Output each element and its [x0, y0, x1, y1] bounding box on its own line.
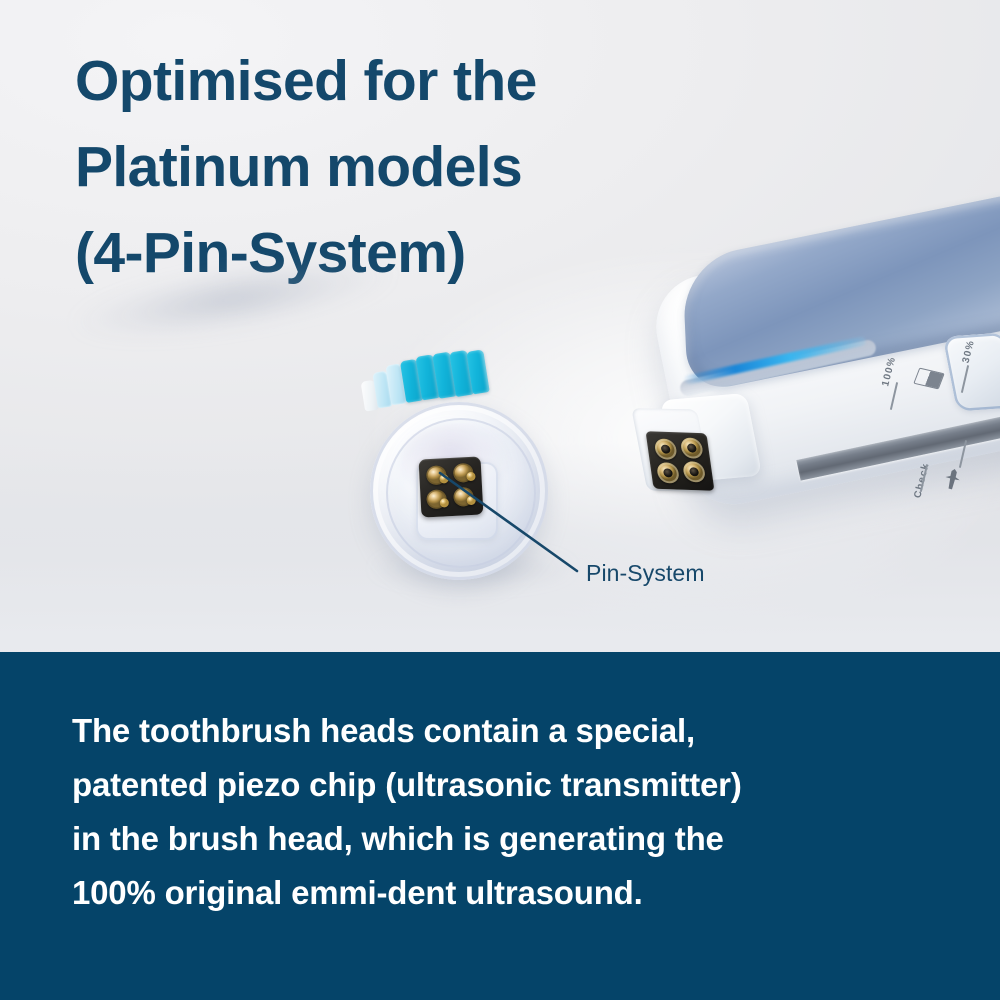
description-text: The toothbrush heads contain a special, … — [72, 704, 952, 920]
brush-head-4-pin-chip — [419, 456, 484, 517]
handle-4-pin-socket — [646, 431, 715, 491]
contact-pin-tip — [466, 472, 475, 481]
callout-label-pin-system: Pin-System — [586, 560, 705, 587]
contact-pin-tip — [440, 498, 449, 507]
socket-pin — [680, 437, 704, 459]
product-infographic: Optimised for the Platinum models (4-Pin… — [0, 0, 1000, 1000]
socket-pin — [654, 438, 678, 460]
toothbrush-head — [352, 352, 572, 582]
brush-head-ferrule — [370, 402, 548, 580]
socket-pin — [656, 462, 680, 484]
socket-pin — [682, 461, 706, 483]
contact-pin-tip — [467, 496, 476, 505]
product-photo-panel: Optimised for the Platinum models (4-Pin… — [0, 0, 1000, 652]
contact-pin-tip — [439, 474, 448, 483]
description-panel: The toothbrush heads contain a special, … — [0, 652, 1000, 1000]
brush-icon — [942, 466, 964, 491]
